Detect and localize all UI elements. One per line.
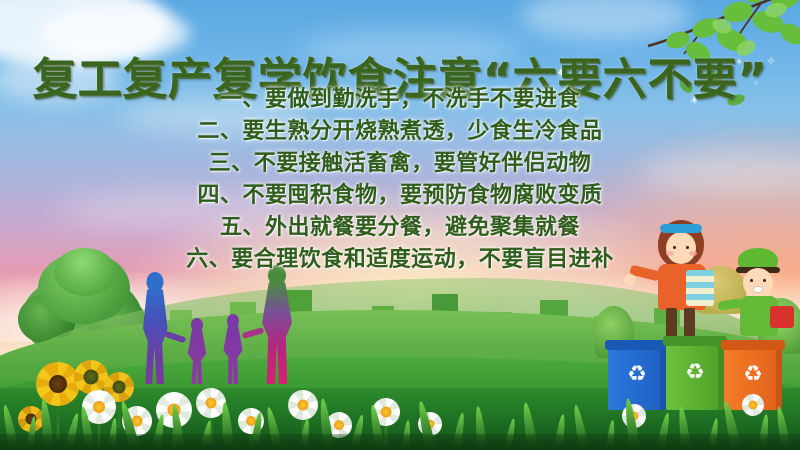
- daisy: [196, 388, 226, 418]
- boy-red-bag: [770, 306, 794, 328]
- poster-canvas: ✦ ✦ ✦ ✧ ✧: [0, 0, 800, 450]
- sunflower: [18, 406, 44, 432]
- boy-mouth: [753, 286, 763, 293]
- daisy: [372, 398, 400, 426]
- daisy: [622, 404, 646, 428]
- boy-eye: [750, 279, 753, 282]
- silhouette-boy: [220, 314, 246, 384]
- recycling-bin-green[interactable]: ♻: [666, 344, 724, 410]
- family-silhouette: [128, 268, 308, 384]
- daisy: [156, 392, 192, 428]
- list-item: 二、要生熟分开烧熟煮透，少食生冷食品: [0, 116, 800, 148]
- guideline-list: 一、要做到勤洗手，不洗手不要进食 二、要生熟分开烧熟煮透，少食生冷食品 三、不要…: [0, 84, 800, 276]
- daisy: [742, 394, 764, 416]
- girl-leg: [684, 308, 695, 338]
- list-item: 三、不要接触活畜禽，要管好伴侣动物: [0, 148, 800, 180]
- daisy: [326, 412, 352, 438]
- list-item: 四、不要囤积食物，要预防食物腐败变质: [0, 180, 800, 212]
- sunflower: [74, 360, 108, 394]
- silhouette-father: [254, 266, 300, 384]
- recycle-icon: ♻: [627, 363, 647, 385]
- boy-eye: [763, 279, 766, 282]
- daisy: [122, 406, 152, 436]
- daisy: [418, 412, 442, 436]
- list-item: 一、要做到勤洗手，不洗手不要进食: [0, 84, 800, 116]
- daisy: [238, 408, 264, 434]
- daisy: [288, 390, 318, 420]
- silhouette-girl: [184, 318, 210, 384]
- recycling-bin-blue[interactable]: ♻: [608, 348, 666, 410]
- girl-leg: [666, 308, 677, 338]
- recycle-icon: ♻: [743, 363, 763, 385]
- cloud: [520, 0, 690, 40]
- daisy: [82, 390, 116, 424]
- recycle-icon: ♻: [685, 361, 705, 383]
- silhouette-mother: [134, 272, 176, 384]
- list-item: 六、要合理饮食和适度运动，不要盲目进补: [0, 244, 800, 276]
- list-item: 五、外出就餐要分餐，避免聚集就餐: [0, 212, 800, 244]
